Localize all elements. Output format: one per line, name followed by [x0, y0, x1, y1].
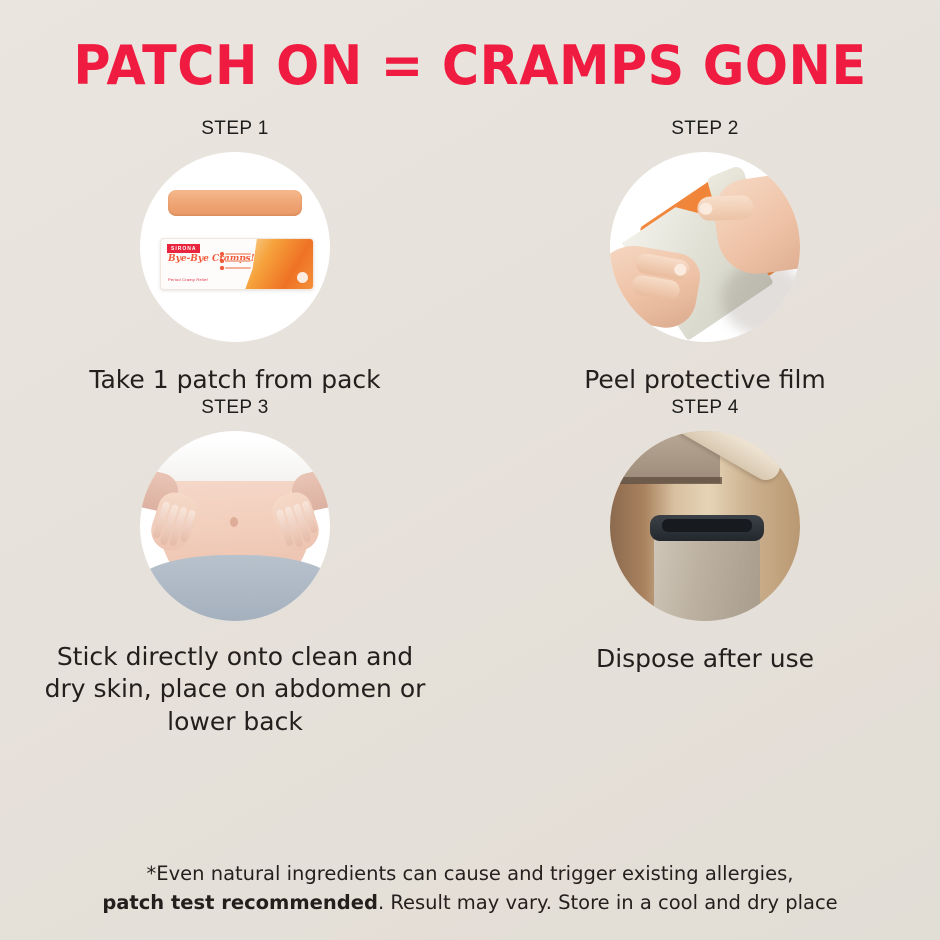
step-label-1: STEP 1 [201, 118, 269, 140]
step-card-1: STEP 1 SIRONA Bye-Bye Cramps! Period Cra… [0, 118, 470, 397]
patch-strip-icon [168, 190, 302, 216]
page-title: PATCH ON = CRAMPS GONE [28, 34, 912, 97]
step-image-1: SIRONA Bye-Bye Cramps! Period Cramp Reli… [140, 152, 330, 342]
step-caption-3: Stick directly onto clean and dry skin, … [35, 641, 435, 739]
product-pack: SIRONA Bye-Bye Cramps! Period Cramp Reli… [160, 238, 314, 290]
footer-disclaimer: *Even natural ingredients can cause and … [0, 859, 940, 918]
footer-line-1: *Even natural ingredients can cause and … [0, 859, 940, 889]
step-image-2 [610, 152, 800, 342]
step-image-4 [610, 431, 800, 621]
trash-bin-icon [654, 527, 760, 621]
infographic-page: PATCH ON = CRAMPS GONE STEP 1 SIRONA Bye… [0, 0, 940, 940]
pack-brand-label: SIRONA [167, 244, 200, 253]
footer-line-2: patch test recommended. Result may vary.… [0, 888, 940, 918]
step-card-3: STEP 3 Stick directly onto clean and dry… [0, 397, 470, 739]
step-card-4: STEP 4 Dispose after use [470, 397, 940, 739]
step-label-3: STEP 3 [201, 397, 269, 419]
step-label-4: STEP 4 [671, 397, 739, 419]
step-label-2: STEP 2 [671, 118, 739, 140]
underwear-icon [140, 555, 330, 621]
step-image-3 [140, 431, 330, 621]
footer-bold-text: patch test recommended [102, 891, 378, 914]
footer-rest-text: . Result may vary. Store in a cool and d… [378, 891, 838, 914]
pack-subtitle-label: Period Cramp Relief [168, 277, 208, 282]
counter-edge [610, 477, 722, 484]
pack-badge-icon [297, 272, 308, 283]
step-card-2: STEP 2 Peel protective film [470, 118, 940, 397]
step-caption-2: Peel protective film [584, 364, 826, 397]
step-caption-4: Dispose after use [596, 643, 814, 676]
step-caption-1: Take 1 patch from pack [89, 364, 380, 397]
white-top-icon [146, 439, 324, 481]
pack-bullet-lines [225, 253, 251, 274]
navel-icon [230, 517, 238, 527]
steps-grid: STEP 1 SIRONA Bye-Bye Cramps! Period Cra… [0, 118, 940, 738]
bin-opening [662, 519, 752, 532]
